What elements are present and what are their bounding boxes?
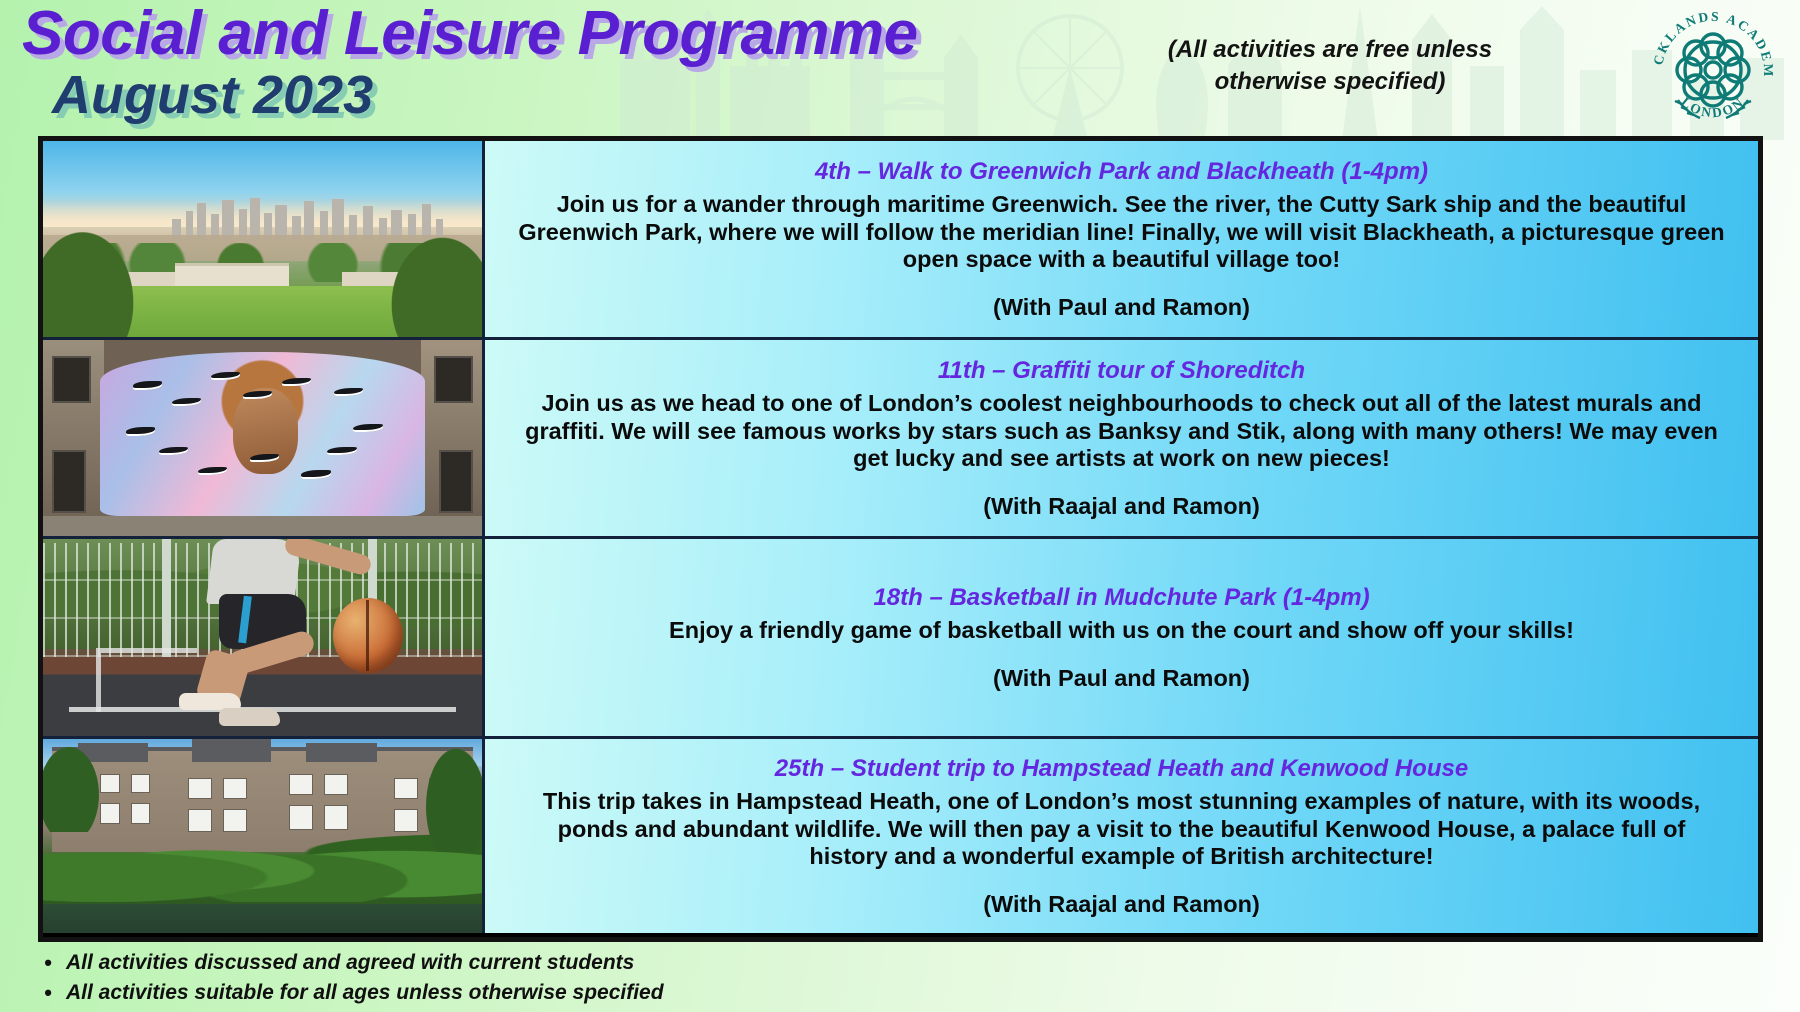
- basketball-player-photo: [43, 539, 485, 736]
- title-block: Social and Leisure Programme August 2023: [22, 2, 918, 124]
- event-cell: 18th – Basketball in Mudchute Park (1-4p…: [485, 539, 1758, 736]
- greenwich-park-skyline-photo: [43, 141, 485, 337]
- event-hosts: (With Raajal and Ramon): [983, 891, 1260, 918]
- event-hosts: (With Raajal and Ramon): [983, 493, 1260, 520]
- footer-notes: All activities discussed and agreed with…: [0, 948, 1800, 1008]
- table-row: 11th – Graffiti tour of Shoreditch Join …: [43, 340, 1758, 539]
- footer-note: All activities discussed and agreed with…: [66, 948, 1800, 978]
- table-row: 4th – Walk to Greenwich Park and Blackhe…: [43, 141, 1758, 340]
- kenwood-house-photo: [43, 739, 485, 933]
- event-description: Join us for a wander through maritime Gr…: [517, 191, 1727, 274]
- page-subtitle: August 2023: [52, 67, 918, 124]
- free-activities-disclaimer: (All activities are free unless otherwis…: [1115, 34, 1545, 99]
- event-description: Enjoy a friendly game of basketball with…: [669, 617, 1574, 645]
- event-title: 11th – Graffiti tour of Shoreditch: [938, 356, 1305, 386]
- docklands-academy-logo: DOCKLANDS ACADEMY LONDON: [1648, 4, 1778, 134]
- page-header: Social and Leisure Programme August 2023…: [0, 0, 1800, 138]
- programme-table: 4th – Walk to Greenwich Park and Blackhe…: [38, 136, 1763, 942]
- event-title: 4th – Walk to Greenwich Park and Blackhe…: [815, 157, 1428, 187]
- event-description: This trip takes in Hampstead Heath, one …: [517, 788, 1727, 871]
- shoreditch-graffiti-mural-photo: [43, 340, 485, 536]
- event-cell: 11th – Graffiti tour of Shoreditch Join …: [485, 340, 1758, 536]
- event-hosts: (With Paul and Ramon): [993, 665, 1250, 692]
- page-title: Social and Leisure Programme: [22, 2, 918, 65]
- table-row: 25th – Student trip to Hampstead Heath a…: [43, 739, 1758, 933]
- event-cell: 25th – Student trip to Hampstead Heath a…: [485, 739, 1758, 933]
- event-cell: 4th – Walk to Greenwich Park and Blackhe…: [485, 141, 1758, 337]
- event-description: Join us as we head to one of London’s co…: [517, 390, 1727, 473]
- event-title: 25th – Student trip to Hampstead Heath a…: [775, 754, 1468, 784]
- footer-note: All activities suitable for all ages unl…: [66, 978, 1800, 1008]
- event-hosts: (With Paul and Ramon): [993, 294, 1250, 321]
- table-row: 18th – Basketball in Mudchute Park (1-4p…: [43, 539, 1758, 739]
- event-title: 18th – Basketball in Mudchute Park (1-4p…: [873, 583, 1369, 613]
